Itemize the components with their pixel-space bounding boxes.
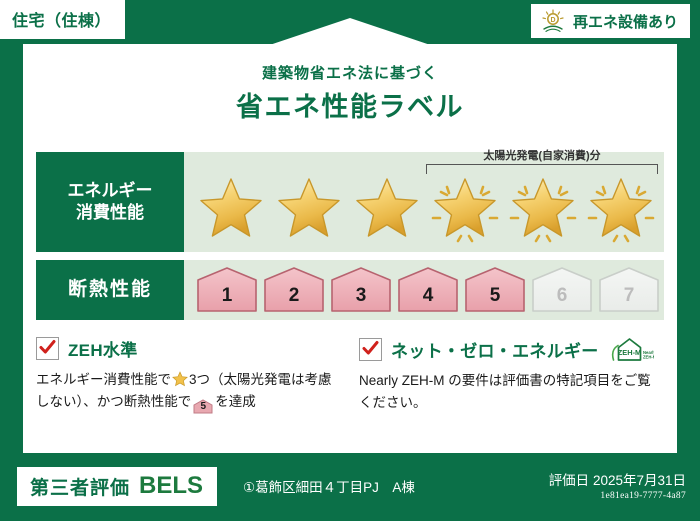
energy-performance-row: エネルギー 消費性能 太陽光発電(自家消費)分 (36, 152, 664, 252)
renewable-badge-label: 再エネ設備あり (573, 11, 678, 32)
insulation-grade-4: 4 (397, 266, 459, 312)
star-icon (506, 174, 580, 248)
grade-number: 6 (557, 286, 568, 312)
star-icon (584, 174, 658, 248)
insulation-grade-1: 1 (196, 266, 258, 312)
inline-grade-badge: 5 (193, 399, 213, 414)
bels-en-label: BELS (139, 472, 203, 500)
grade-number: 3 (356, 286, 367, 312)
inline-grade-number: 5 (193, 399, 213, 415)
star-base (350, 174, 424, 248)
grade-number: 7 (624, 286, 635, 312)
svg-text:ZEH-M: ZEH-M (643, 355, 654, 360)
insulation-grade-5: 5 (464, 266, 526, 312)
claim-zeh-header: ZEH水準 (36, 336, 341, 361)
star-icon (350, 174, 424, 248)
energy-key-line1: エネルギー (68, 180, 153, 202)
renewable-equipment-badge: D 再エネ設備あり (531, 4, 690, 38)
energy-star-rating (184, 174, 664, 248)
inline-star-icon (172, 371, 188, 387)
grade-number: 4 (423, 286, 434, 312)
evaluation-id: 1e81ea19-7777-4a87 (549, 491, 686, 501)
energy-performance-value: 太陽光発電(自家消費)分 (184, 152, 664, 252)
insulation-performance-value: 1234567 (184, 260, 664, 320)
title-block: 建築物省エネ法に基づく 省エネ性能ラベル (23, 62, 677, 124)
page-title: 省エネ性能ラベル (23, 85, 677, 124)
claim-zeh-body: エネルギー消費性能で3つ（太陽光発電は考慮しない）、かつ断熱性能で5を達成 (36, 369, 341, 414)
claim-net-zero-energy: ネット・ゼロ・エネルギー ZEH-M Nearly ZEH-M Nearly Z… (359, 336, 664, 414)
claim-zeh-title: ZEH水準 (68, 336, 138, 361)
claim-nze-title: ネット・ゼロ・エネルギー (391, 337, 599, 362)
insulation-grade-2: 2 (263, 266, 325, 312)
star-icon (272, 174, 346, 248)
checkmark-icon (36, 337, 59, 360)
bels-certification-box: 第三者評価 BELS (17, 467, 217, 506)
property-address: ①葛飾区細田４丁目PJ A棟 (243, 476, 415, 496)
insulation-grade-3: 3 (330, 266, 392, 312)
claims-section: ZEH水準 エネルギー消費性能で3つ（太陽光発電は考慮しない）、かつ断熱性能で5… (36, 336, 664, 414)
solar-sun-icon: D (540, 9, 566, 33)
svg-text:D: D (550, 17, 555, 24)
evaluation-info: 評価日 2025年7月31日 1e81ea19-7777-4a87 (549, 469, 686, 501)
solar-annotation: 太陽光発電(自家消費)分 (426, 150, 658, 174)
star-solar (428, 174, 502, 248)
claim-zeh-text-1: エネルギー消費性能で (36, 372, 171, 387)
evaluation-date: 評価日 2025年7月31日 (549, 469, 686, 489)
bels-jp-label: 第三者評価 (30, 473, 130, 500)
insulation-key-label: 断熱性能 (68, 278, 152, 302)
label-footer: 第三者評価 BELS ①葛飾区細田４丁目PJ A棟 評価日 2025年7月31日… (0, 459, 700, 521)
insulation-grade-6: 6 (531, 266, 593, 312)
solar-bracket (426, 164, 658, 174)
star-icon (428, 174, 502, 248)
building-type-tag: 住宅（住棟） (0, 0, 125, 39)
grade-number: 5 (490, 286, 501, 312)
claim-nze-body: Nearly ZEH-M の要件は評価書の特記項目をご覧ください。 (359, 370, 664, 414)
energy-performance-key: エネルギー 消費性能 (36, 152, 184, 252)
star-solar (584, 174, 658, 248)
claim-nze-header: ネット・ゼロ・エネルギー ZEH-M Nearly ZEH-M (359, 336, 664, 362)
energy-key-line2: 消費性能 (76, 202, 144, 224)
zeh-m-logo-icon: ZEH-M Nearly ZEH-M (610, 336, 654, 362)
star-base (194, 174, 268, 248)
checkmark-icon (359, 338, 382, 361)
grade-number: 1 (222, 286, 233, 312)
insulation-performance-key: 断熱性能 (36, 260, 184, 320)
building-type-label: 住宅（住棟） (12, 13, 111, 30)
insulation-grade-scale: 1234567 (196, 266, 660, 312)
solar-annotation-label: 太陽光発電(自家消費)分 (426, 150, 658, 162)
star-solar (506, 174, 580, 248)
title-subtitle: 建築物省エネ法に基づく (23, 62, 677, 83)
claim-zeh-text-3: を達成 (215, 394, 256, 409)
insulation-grade-7: 7 (598, 266, 660, 312)
star-icon (194, 174, 268, 248)
insulation-performance-row: 断熱性能 1234567 (36, 260, 664, 320)
label-body-panel: 建築物省エネ法に基づく 省エネ性能ラベル エネルギー 消費性能 太陽光発電(自家… (23, 44, 677, 453)
star-base (272, 174, 346, 248)
claim-zeh-level: ZEH水準 エネルギー消費性能で3つ（太陽光発電は考慮しない）、かつ断熱性能で5… (36, 336, 341, 414)
energy-performance-label: 住宅（住棟） D 再エネ設備あり 建築物省エネ法に基づく 省エネ性能ラベル (0, 0, 700, 521)
svg-text:ZEH-M: ZEH-M (617, 348, 640, 357)
grade-number: 2 (289, 286, 300, 312)
